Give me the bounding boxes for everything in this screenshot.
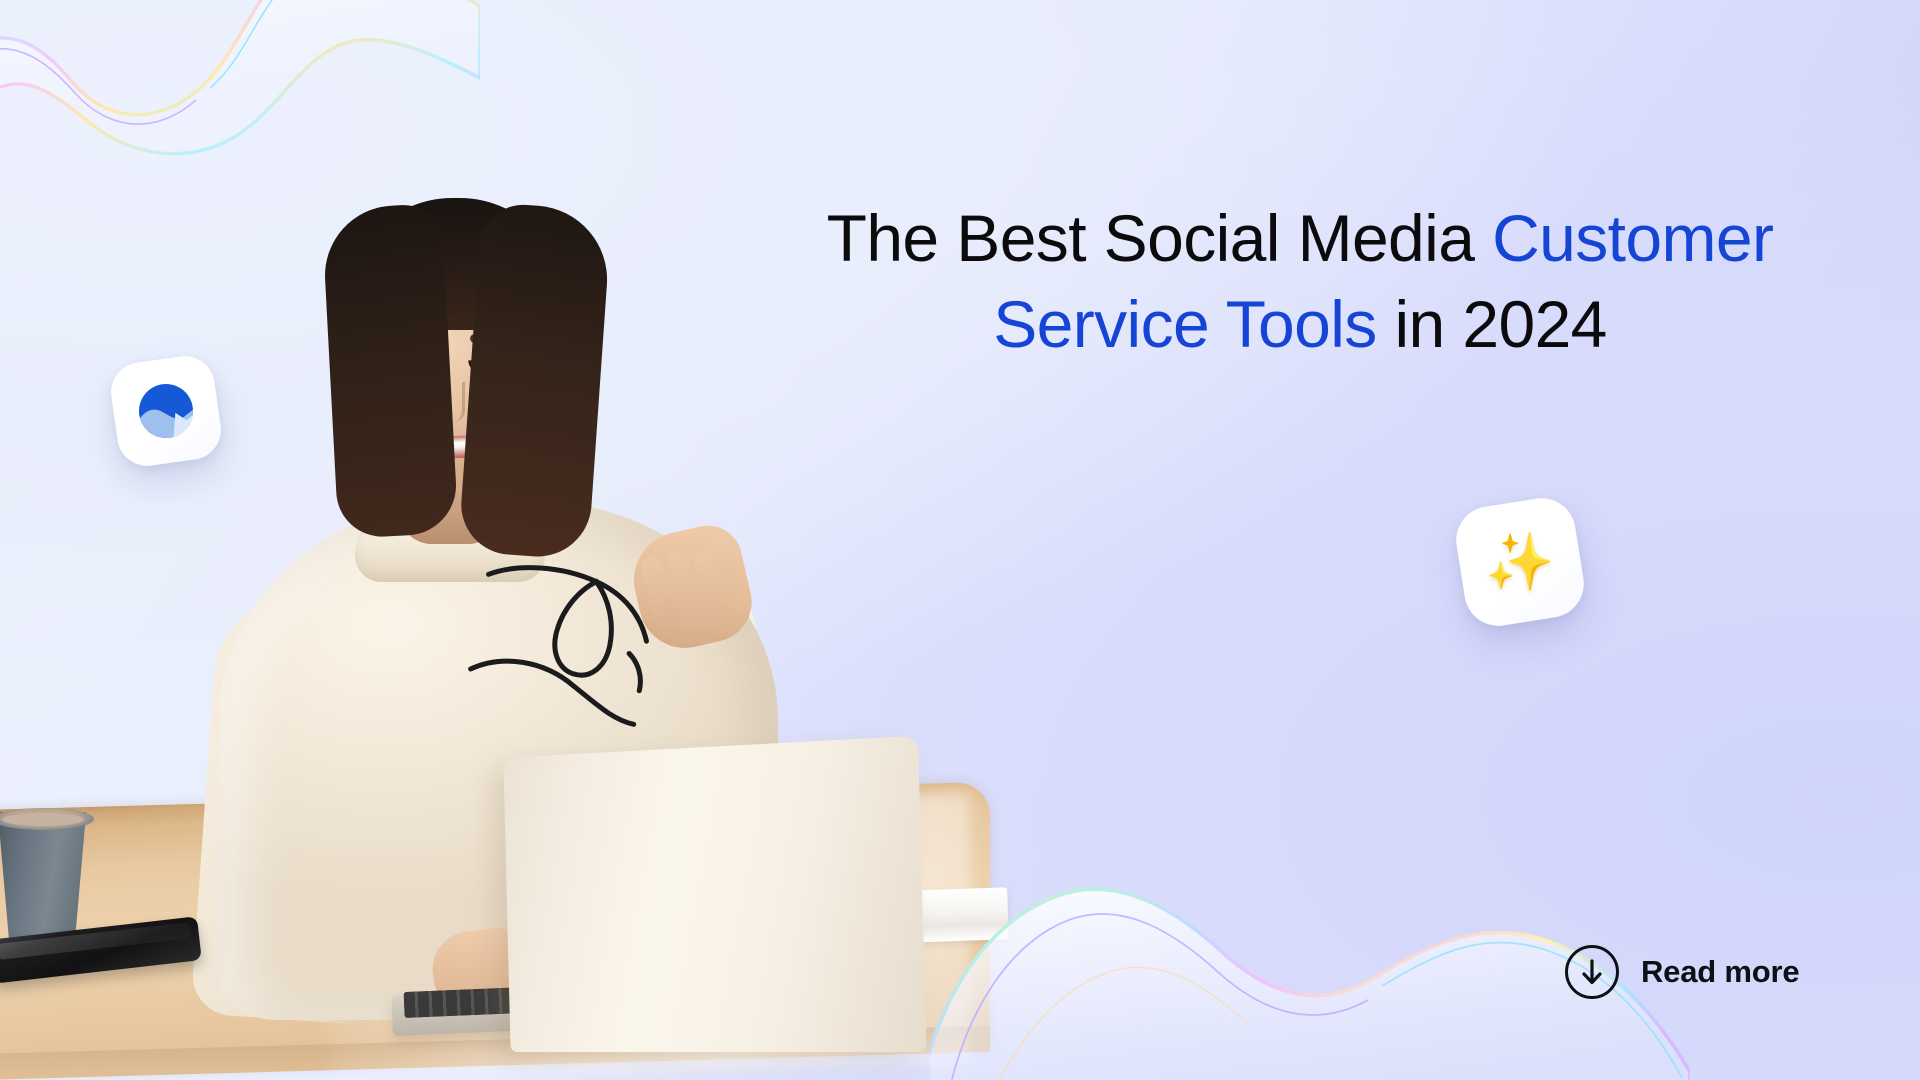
- hair-strand-left: [321, 203, 458, 539]
- headline-line-1: The Best Social Media: [827, 201, 1475, 275]
- hero-photo: [0, 0, 1160, 1080]
- read-more-button[interactable]: Read more: [1565, 945, 1799, 999]
- read-more-label: Read more: [1641, 954, 1799, 990]
- hero-banner: ✨ The Best Social Media Customer Service…: [0, 0, 1920, 1080]
- laptop-screen-lid: [503, 736, 926, 1052]
- mug-liquid: [2, 813, 84, 826]
- sparkles-app-icon[interactable]: ✨: [1451, 493, 1588, 630]
- hair-strand-right: [458, 202, 612, 560]
- photo-landscape-icon: [131, 376, 201, 446]
- circle-arrow-down-icon: [1565, 945, 1619, 999]
- sparkles-icon: ✨: [1485, 534, 1555, 590]
- headline-line-2-tail: in: [1377, 287, 1445, 361]
- page-title: The Best Social Media Customer Service T…: [780, 196, 1820, 368]
- photo-app-icon[interactable]: [107, 352, 224, 469]
- headline-line-3: 2024: [1462, 287, 1606, 361]
